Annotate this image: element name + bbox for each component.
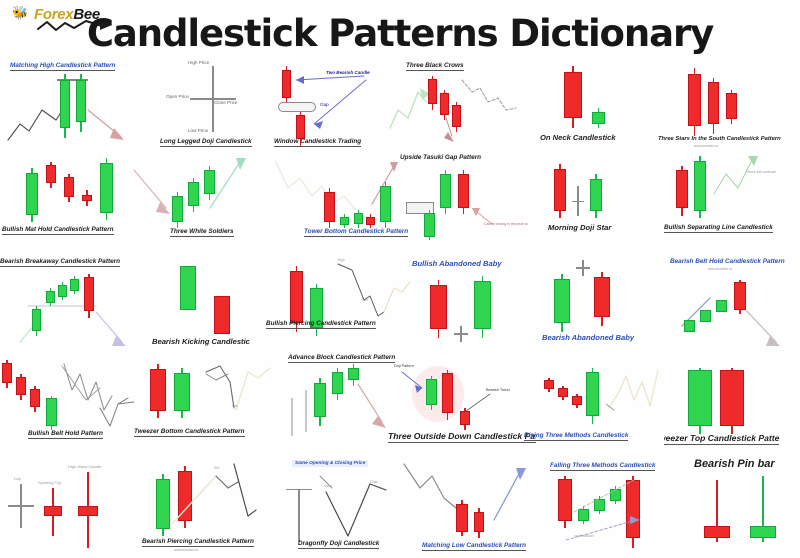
patterns-grid: Matching High Candlestick Pattern High P… (0, 56, 800, 558)
price-line (0, 254, 148, 350)
candlestick-bullish (592, 108, 605, 128)
pattern-label: Tweezer Top Candlestick Patte (664, 434, 779, 445)
pattern-label: Rising Three Methods Candlestick (524, 432, 628, 441)
trend-lines (540, 454, 686, 558)
candlestick-bullish (474, 276, 491, 338)
candlestick-bearish (734, 280, 746, 314)
candlestick-bearish (324, 188, 335, 228)
candlestick-bullish (684, 320, 695, 332)
pattern-cell-long-legged-doji[interactable]: High Price Open Price Close Price Low Pr… (150, 58, 262, 150)
candlestick-bullish (204, 166, 215, 200)
annotation-low: Low (232, 404, 238, 408)
pattern-cell-dragonfly-doji[interactable]: Same Opening & Closing Price Open Close … (276, 454, 406, 558)
pattern-label: Matching Low Candlestick Pattern (422, 542, 526, 551)
candlestick-bearish (442, 370, 453, 420)
candlestick-bearish (366, 214, 375, 228)
candlestick-bearish (720, 368, 744, 434)
candlestick-bullish (380, 182, 391, 228)
pattern-cell-tweezer-bottom[interactable]: Low Tweezer Bottom Candlestick Pattern (132, 352, 282, 448)
candlestick-bearish (688, 68, 701, 136)
annotation-low: Low (362, 298, 368, 302)
candlestick-bearish (452, 102, 461, 132)
annotation-open: Open (324, 484, 332, 488)
candlestick-bearish (708, 78, 719, 134)
header: 🐝 ForexBee Candlestick Patterns Dictiona… (0, 0, 800, 60)
annotation-close: Close (370, 480, 378, 484)
annotation-trend-continue: Trend will continue (746, 170, 776, 174)
candlestick-bullish (354, 210, 363, 228)
pattern-label: Bearish Piercing Candlestick Pattern (142, 538, 254, 547)
candlestick-bullish (688, 368, 712, 434)
page-title: Candlestick Patterns Dictionary (0, 12, 800, 55)
annotation-low-price: Low Price (188, 128, 208, 133)
pattern-label: Dragonfly Doji Candlestick (298, 540, 379, 549)
pattern-cell-falling-three-methods[interactable]: Falling Three Methods Candlestick conf (540, 454, 686, 558)
candlestick-bullish (26, 168, 38, 222)
annotation-two-bearish-candle: Two Bearish Candle (326, 70, 370, 75)
pattern-cell-bearish-breakaway[interactable]: Bearish Breakaway Candlestick Pattern (0, 254, 148, 350)
pattern-cell-bearish-kicking[interactable]: Bearish Kicking Candlestic (148, 254, 284, 350)
pattern-cell-upside-tasuki-gap[interactable]: Upside Tasuki Gap Pattern Candle closing… (392, 152, 528, 240)
candlestick-bullish (180, 266, 196, 310)
pattern-cell-matching-high[interactable]: Matching High Candlestick Pattern (2, 58, 148, 150)
pattern-label: On Neck Candlestick (540, 134, 616, 142)
pattern-cell-bearish-belt-hold[interactable]: Bearish Belt Hold Candlestick Pattern ww… (666, 254, 800, 350)
candlestick-bullish (70, 276, 79, 294)
annotation-confirmation: confirmation (574, 534, 594, 538)
pattern-cell-matching-low[interactable]: Matching Low Candlestick Pattern (398, 454, 544, 558)
candlestick-bearish (78, 472, 98, 548)
pattern-label: Bearish Pin bar (694, 458, 775, 470)
candlestick-bullish (314, 378, 326, 426)
candlestick-bearish (44, 488, 62, 536)
pattern-cell-window-candlestick[interactable]: Two Bearish Candle Gap Window Candlestic… (264, 58, 382, 150)
pattern-cell-bullish-separating-line[interactable]: Trend will continue Bullish Separating L… (654, 152, 800, 240)
annotation-candle-closing: Candle closing in the price zone (484, 222, 528, 226)
candlestick-bullish (700, 310, 711, 322)
candlestick-bullish (590, 174, 602, 218)
candlestick-bullish-pin (750, 476, 776, 542)
pattern-cell-three-outside-down[interactable]: Doji Pattern Bearish Trend Three Outside… (386, 352, 536, 448)
pattern-cell-rising-three-methods[interactable]: Rising Three Methods Candlestick (522, 352, 672, 448)
annotation-high: High (338, 258, 345, 262)
candlestick-bullish (172, 192, 183, 228)
doji-candle (454, 326, 468, 342)
pattern-cell-bearish-piercing[interactable]: Buy Sell Bearish Piercing Candlestick Pa… (130, 454, 280, 558)
candlestick-bearish (82, 190, 92, 206)
pattern-label: Bullish Abandoned Baby (412, 260, 502, 268)
infographic-sheet: 🐝 ForexBee Candlestick Patterns Dictiona… (0, 0, 800, 558)
candlestick-bullish (58, 282, 67, 300)
pattern-label: Morning Doji Star (548, 224, 611, 232)
candlestick-bullish (716, 300, 727, 312)
price-line (666, 254, 800, 350)
pattern-label: Bullish Piercing Candlestick Pattern (266, 320, 376, 329)
candlestick-bearish (440, 90, 449, 120)
annotation-open-price: Open Price (166, 94, 189, 99)
pattern-cell-three-stars-south[interactable]: Three Stars In the South Candlestick Pat… (656, 58, 800, 150)
candlestick-bearish (46, 162, 56, 188)
candlestick-bearish (726, 90, 737, 124)
candlestick-bullish (100, 158, 113, 220)
price-line (2, 58, 148, 150)
annotation-bearish-trend: Bearish Trend (486, 388, 510, 392)
pattern-label: Three Stars In the South Candlestick Pat… (658, 136, 781, 142)
candlestick-bearish-pin (704, 480, 730, 542)
annotation-doji: Doji (14, 476, 21, 481)
candlestick-bearish (564, 66, 582, 128)
annotation-spinning-top: Spinning Top (38, 480, 61, 485)
annotation-close-price: Close Price (214, 100, 238, 105)
doji-candle (8, 484, 34, 528)
annotation-high-price: High Price (188, 60, 209, 65)
pattern-cell-bearish-pin-bar[interactable]: Bearish Pin bar (686, 454, 800, 558)
candlestick-bearish (430, 280, 447, 338)
candlestick-bullish (554, 274, 570, 332)
annotation-sell: Sell (214, 466, 219, 470)
pattern-cell-doji-spinning-high-wave[interactable]: Doji Spinning Top High Wave Candle (0, 454, 130, 558)
pattern-cell-morning-doji-star[interactable]: Morning Doji Star (528, 152, 654, 240)
pattern-cell-tweezer-top[interactable]: Tweezer Top Candlestick Patte (664, 352, 800, 448)
doji-candle (572, 186, 584, 216)
candlestick-bullish (426, 376, 437, 410)
pattern-label: Three White Soldiers (170, 228, 234, 237)
candlestick-bearish (428, 76, 437, 110)
pattern-label: Tweezer Bottom Candlestick Pattern (134, 428, 245, 437)
pattern-cell-bullish-abandoned-baby[interactable]: Bullish Abandoned Baby (400, 254, 530, 350)
candlestick-bearish (474, 508, 484, 538)
pattern-label: Bearish Abandoned Baby (542, 334, 634, 342)
price-line (266, 254, 416, 350)
pattern-label: Bullish Belt Hold Pattern (28, 430, 103, 439)
candlestick-bearish (554, 164, 566, 218)
candlestick-bullish (348, 364, 359, 386)
candlestick-bullish (32, 306, 41, 336)
annotation-gap: Gap (320, 102, 329, 107)
pattern-label: Long Legged Doji Candlestick (160, 138, 252, 147)
pattern-label: Bearish Kicking Candlestic (152, 338, 250, 346)
pattern-label: Window Candlestick Trading (274, 138, 361, 147)
pattern-label: Bullish Separating Line Candlestick (664, 224, 773, 233)
candlestick-bullish (46, 288, 55, 306)
pattern-label: Three Outside Down Candlestick Patt (388, 432, 536, 443)
pattern-cell-three-white-soldiers[interactable]: Three White Soldiers (128, 152, 268, 240)
candlestick-bearish (64, 174, 74, 202)
candlestick-bullish (188, 178, 199, 212)
pattern-cell-bullish-belt-hold[interactable]: Bullish Belt Hold Pattern (0, 352, 140, 448)
pattern-cell-three-black-crows[interactable]: Three Black Crows (384, 58, 524, 150)
candlestick-bearish (460, 408, 470, 430)
candlestick-bullish (60, 74, 70, 138)
doji-candle (190, 66, 236, 132)
annotation-high-wave-candle: High Wave Candle (68, 464, 101, 469)
pattern-cell-on-neck[interactable]: On Neck Candlestick (520, 58, 658, 150)
annotation-doji-pattern: Doji Pattern (394, 364, 414, 368)
annotation-buy: Buy (166, 518, 172, 522)
candlestick-bullish (332, 368, 343, 400)
candlestick-bearish (456, 500, 468, 536)
candlestick-bullish (76, 74, 86, 132)
pattern-cell-bullish-piercing[interactable]: High Low Bullish Piercing Candlestick Pa… (266, 254, 416, 350)
candlestick-bullish (340, 214, 349, 228)
doji-candle (576, 260, 590, 276)
annotation-arrow (392, 152, 528, 240)
watermark: www.forexbee.co (174, 548, 198, 552)
candlestick-bearish (84, 274, 94, 318)
watermark: www.forexbee.co (694, 144, 718, 148)
pattern-label: Bullish Mat Hold Candlestick Pattern (2, 226, 114, 235)
pattern-cell-bearish-abandoned-baby[interactable]: Bearish Abandoned Baby (530, 254, 666, 350)
candlestick-bearish (214, 296, 230, 334)
candlestick-bearish (594, 272, 610, 326)
